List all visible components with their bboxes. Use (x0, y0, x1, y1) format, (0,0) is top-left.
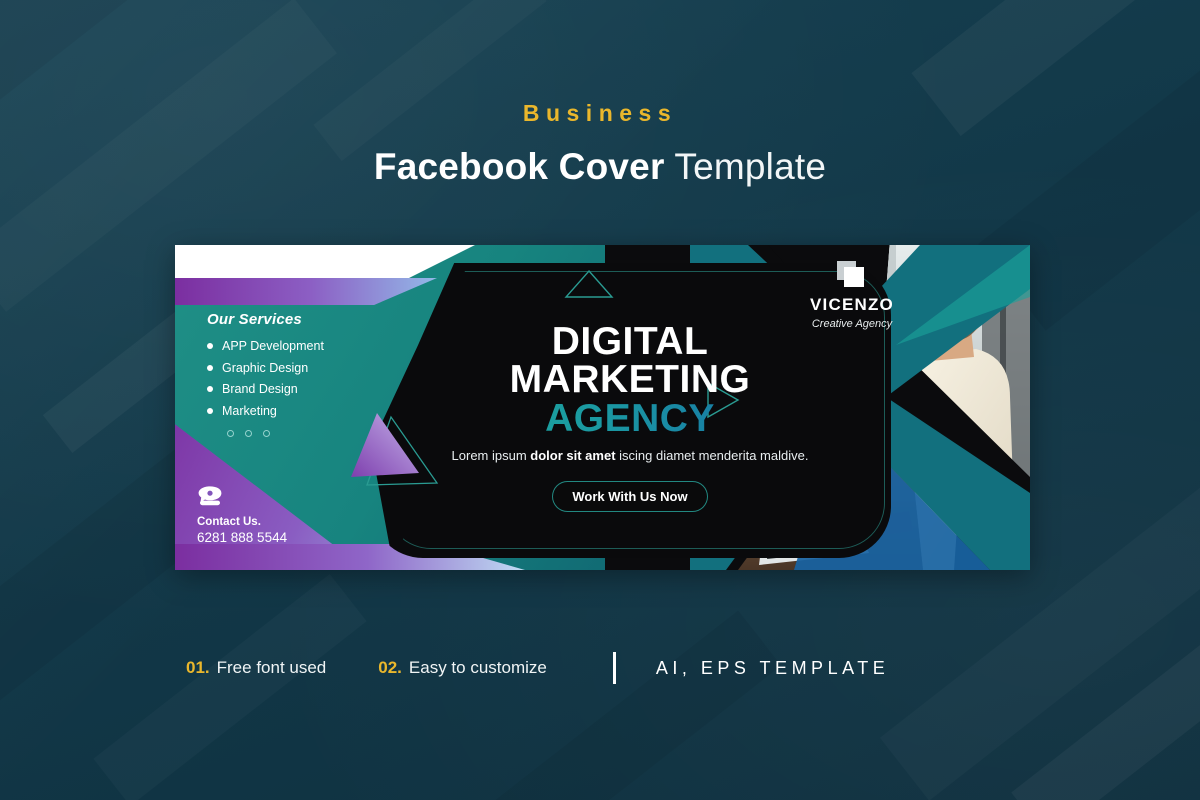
bullet-icon (207, 343, 213, 349)
header-eyebrow: Business (0, 100, 1200, 127)
bullet-icon (207, 408, 213, 414)
service-label: APP Development (222, 339, 324, 353)
service-label: Marketing (222, 404, 277, 418)
contact-block[interactable]: Contact Us. 6281 888 5544 (197, 485, 287, 545)
subtext-bold: dolor sit amet (530, 448, 615, 463)
dot-icon (245, 430, 252, 437)
footer-divider (613, 652, 616, 684)
subtext-before: Lorem ipsum (452, 448, 531, 463)
subtext-after: iscing diamet menderita maldive. (616, 448, 809, 463)
feature-item-1: 01. Free font used (186, 658, 326, 678)
work-with-us-button[interactable]: Work With Us Now (552, 481, 707, 512)
bullet-icon (207, 365, 213, 371)
page-title-strong: Facebook Cover (374, 146, 665, 187)
telephone-icon (197, 485, 223, 507)
page-title: Facebook Cover Template (0, 146, 1200, 188)
logo-tagline: Creative Agency (752, 318, 952, 330)
dot-icon (227, 430, 234, 437)
feature-number: 01. (186, 658, 210, 678)
dot-icon (263, 430, 270, 437)
headline-line-3: AGENCY (415, 399, 845, 439)
logo-brand-name: VICENZO (752, 295, 952, 315)
bullet-icon (207, 386, 213, 392)
page-background: Business Facebook Cover Template (0, 0, 1200, 800)
decorative-dots (227, 430, 270, 437)
contact-phone-number: 6281 888 5544 (197, 530, 287, 545)
feature-number: 02. (378, 658, 402, 678)
feature-label: Easy to customize (409, 658, 547, 678)
service-item: Brand Design (207, 382, 387, 396)
services-list: APP Development Graphic Design Brand Des… (207, 339, 387, 418)
services-title: Our Services (207, 311, 387, 328)
contact-label: Contact Us. (197, 516, 287, 528)
facebook-cover-banner[interactable]: VICENZO Creative Agency Our Services (175, 245, 1030, 570)
service-label: Brand Design (222, 382, 298, 396)
footer-format-label: AI, EPS TEMPLATE (656, 658, 889, 679)
page-header: Business Facebook Cover Template (0, 100, 1200, 188)
feature-item-2: 02. Easy to customize (378, 658, 547, 678)
service-item: Graphic Design (207, 361, 387, 375)
feature-label: Free font used (217, 658, 327, 678)
cover-logo-block: VICENZO Creative Agency (690, 245, 1030, 395)
service-item: Marketing (207, 404, 387, 418)
cover-subtext: Lorem ipsum dolor sit amet iscing diamet… (415, 447, 845, 466)
footer-features: 01. Free font used 02. Easy to customize… (0, 648, 1200, 688)
service-item: APP Development (207, 339, 387, 353)
services-block: Our Services APP Development Graphic Des… (207, 311, 387, 425)
triangle-outline-icon (563, 267, 615, 301)
layered-squares-icon (837, 261, 867, 287)
page-title-light: Template (665, 146, 827, 187)
service-label: Graphic Design (222, 361, 308, 375)
